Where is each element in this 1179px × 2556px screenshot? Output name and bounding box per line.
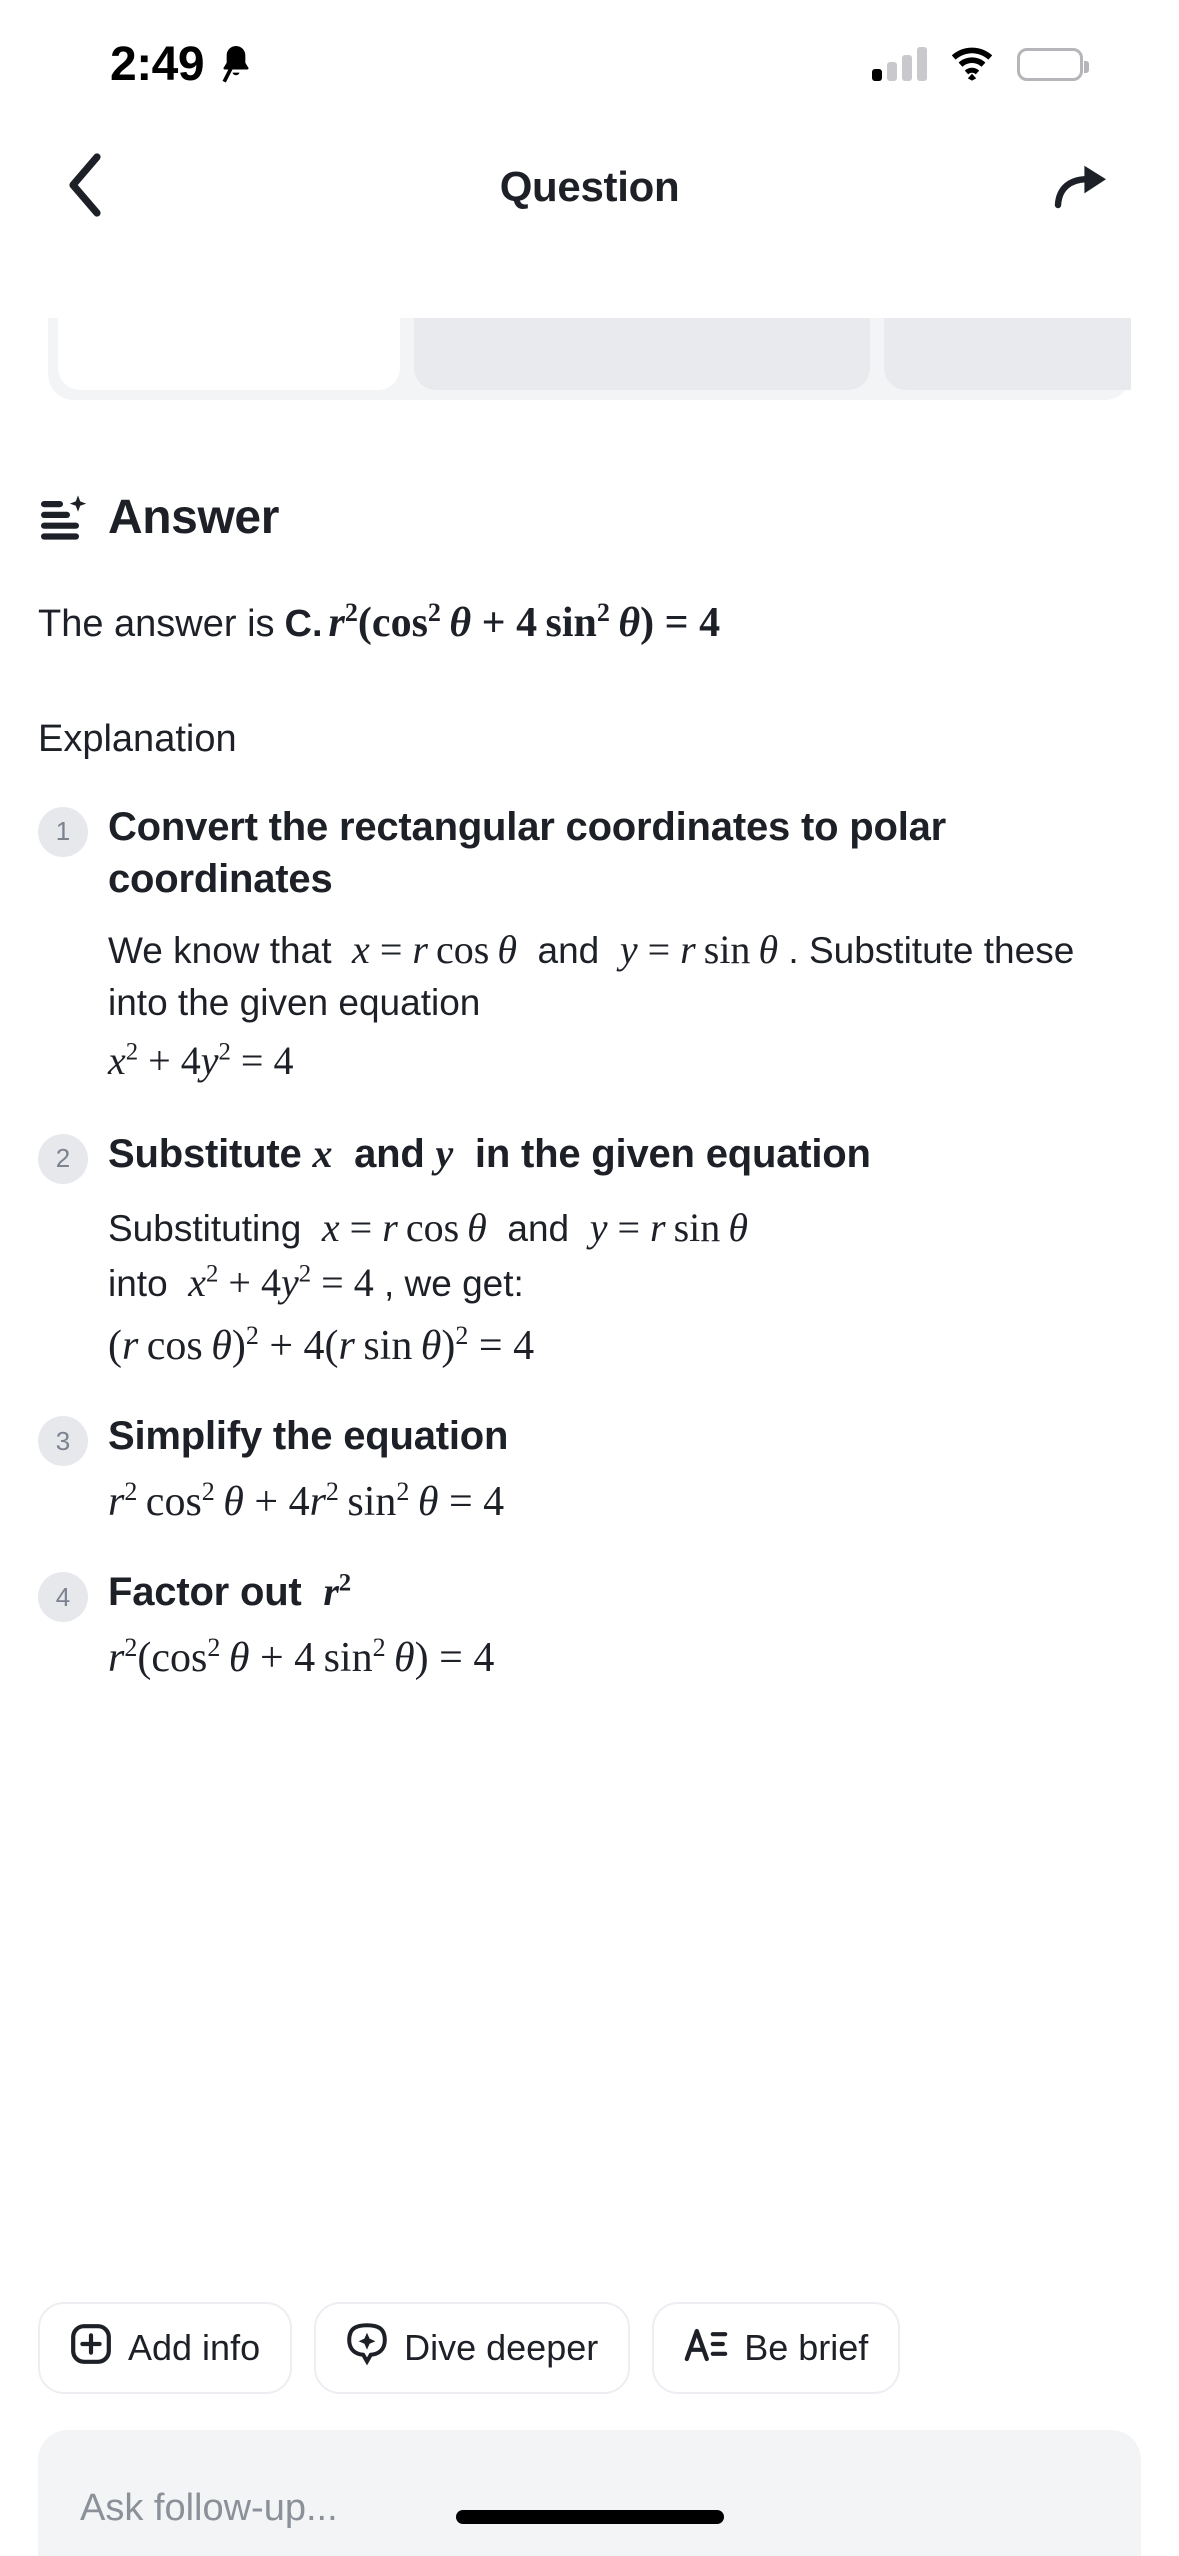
answer-heading: Answer (108, 490, 279, 545)
display-equation-wrap: (r cos θ)2 + 4(r sin θ)2 = 4 (108, 1322, 1141, 1370)
text-shrink-icon (684, 2325, 728, 2372)
answer-heading-row: Answer (38, 490, 1141, 545)
segment-third[interactable] (884, 318, 1131, 390)
segment-selected[interactable] (58, 318, 400, 390)
segmented-control[interactable] (48, 318, 1131, 400)
step-title: Convert the rectangular coordinates to p… (108, 801, 1141, 907)
display-equation: (r cos θ)2 + 4(r sin θ)2 = 4 (108, 1322, 1141, 1370)
inline-equation: x = r cos θ (352, 927, 517, 972)
inline-equation: x2 + 4y2 = 4 (108, 1033, 1141, 1088)
be-brief-button[interactable]: Be brief (652, 2302, 900, 2394)
wifi-icon (949, 47, 995, 81)
dive-deeper-button[interactable]: Dive deeper (314, 2302, 630, 2394)
inline-equation: y = r sin θ (590, 1205, 748, 1250)
segment-second[interactable] (414, 318, 870, 390)
step-header: 3 Simplify the equation (38, 1410, 1141, 1466)
explanation-step: 2 Substitute x and y in the given equati… (38, 1128, 1141, 1370)
home-indicator (456, 2510, 724, 2524)
battery-icon (1017, 48, 1083, 81)
display-equation-wrap: r2 cos2 θ + 4r2 sin2 θ = 4 (108, 1478, 1141, 1526)
sparkle-lines-icon (38, 493, 88, 543)
explanation-step: 1 Convert the rectangular coordinates to… (38, 801, 1141, 1088)
display-equation-wrap: r2(cos2 θ + 4 sin2 θ) = 4 (108, 1634, 1141, 1682)
phone-screen: 2:49 (0, 0, 1179, 2556)
step-title: Substitute x and y in the given equation (108, 1128, 871, 1181)
back-button[interactable] (50, 152, 120, 222)
inline-equation: x = r cos θ (322, 1205, 487, 1250)
share-button[interactable] (1047, 152, 1117, 222)
be-brief-label: Be brief (744, 2327, 868, 2369)
step-number-badge: 3 (38, 1416, 88, 1466)
dive-deeper-label: Dive deeper (404, 2327, 598, 2369)
step-number-badge: 4 (38, 1572, 88, 1622)
step-body: We know that x = r cos θ and y = r sin θ… (108, 922, 1141, 1087)
step-header: 2 Substitute x and y in the given equati… (38, 1128, 1141, 1184)
chevron-left-icon (63, 153, 107, 222)
step-header: 1 Convert the rectangular coordinates to… (38, 801, 1141, 907)
answer-choice-label: C. (285, 599, 323, 650)
bell-slash-icon (216, 41, 256, 87)
status-bar-right (872, 47, 1083, 81)
status-bar: 2:49 (0, 0, 1179, 128)
explanation-step: 3 Simplify the equation r2 cos2 θ + 4r2 … (38, 1410, 1141, 1526)
add-info-button[interactable]: Add info (38, 2302, 292, 2394)
step-title: Simplify the equation (108, 1410, 508, 1463)
step-title: Factor out r2 (108, 1566, 351, 1619)
step-header: 4 Factor out r2 (38, 1566, 1141, 1622)
followup-placeholder: Ask follow-up... (80, 2487, 338, 2530)
step-body: Substituting x = r cos θ and y = r sin θ… (108, 1200, 1141, 1310)
answer-content: Answer The answer is C. r2(cos2 θ + 4 si… (0, 430, 1179, 2556)
cellular-signal-icon (872, 47, 927, 81)
step-number-badge: 1 (38, 807, 88, 857)
followup-input[interactable]: Ask follow-up... (38, 2430, 1141, 2556)
page-title: Question (0, 163, 1179, 211)
answer-statement: The answer is C. r2(cos2 θ + 4 sin2 θ) =… (38, 595, 1141, 652)
share-arrow-icon (1052, 157, 1112, 218)
sparkle-bubble-icon (346, 2322, 388, 2375)
status-bar-left: 2:49 (110, 37, 256, 92)
explanation-title: Explanation (38, 718, 1141, 761)
plus-square-icon (70, 2323, 112, 2374)
segmented-control-clipped (48, 318, 1131, 402)
status-bar-clock: 2:49 (110, 37, 204, 92)
explanation-step: 4 Factor out r2 r2(cos2 θ + 4 sin2 θ) = … (38, 1566, 1141, 1682)
add-info-label: Add info (128, 2327, 260, 2369)
inline-equation: x2 + 4y2 = 4 (188, 1260, 373, 1305)
inline-equation: y = r sin θ (620, 927, 778, 972)
step-number-badge: 2 (38, 1134, 88, 1184)
answer-lead-text: The answer is (38, 599, 275, 650)
display-equation: r2(cos2 θ + 4 sin2 θ) = 4 (108, 1634, 1141, 1682)
answer-equation: r2(cos2 θ + 4 sin2 θ) = 4 (329, 595, 721, 652)
nav-bar: Question (0, 128, 1179, 246)
action-pill-row: Add info Dive deeper Be (38, 2302, 1141, 2394)
display-equation: r2 cos2 θ + 4r2 sin2 θ = 4 (108, 1478, 1141, 1526)
